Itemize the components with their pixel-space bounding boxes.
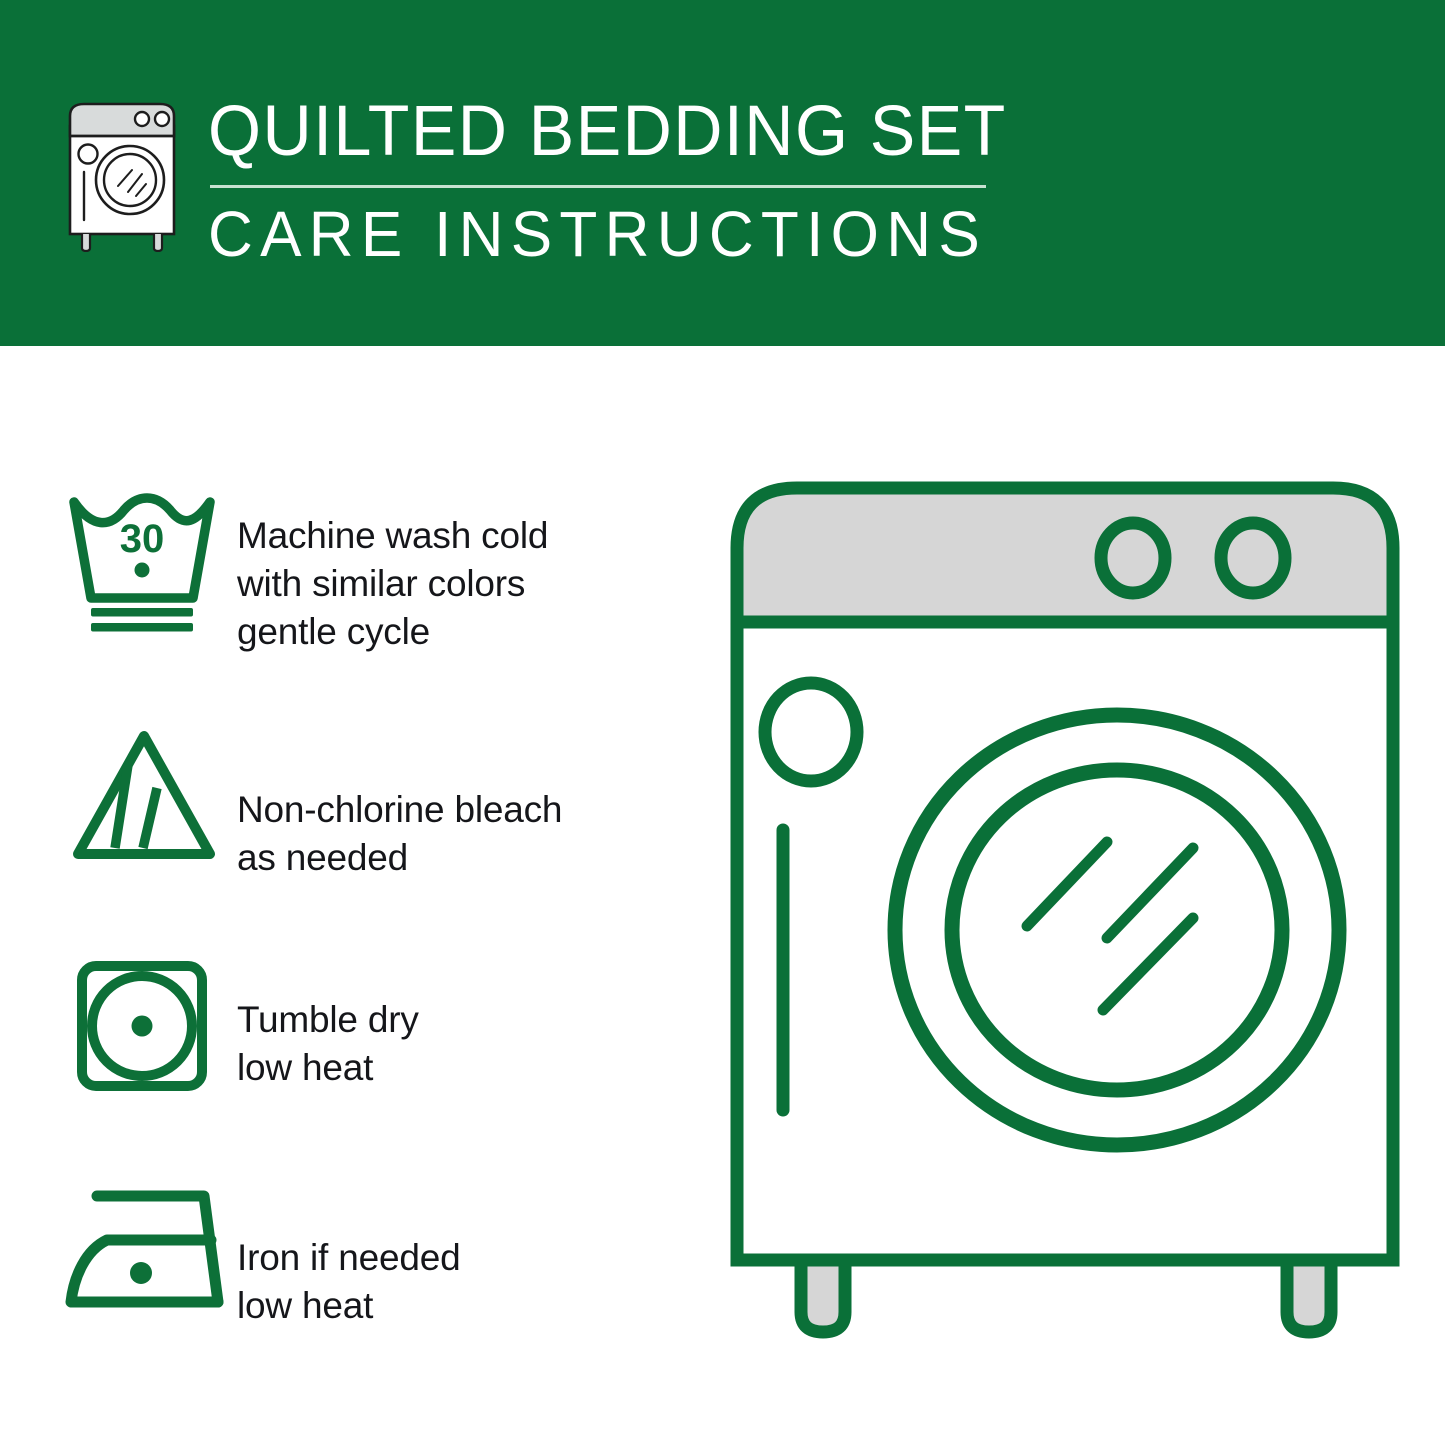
care-instructions-list: 30 Machine wash cold with similar colors… [62,488,682,1416]
machine-leg [1287,1260,1331,1332]
dispenser-button-icon [765,683,857,781]
page-subtitle: CARE INSTRUCTIONS [208,202,1015,266]
page-title: QUILTED BEDDING SET [208,96,1007,167]
iron-symbol [62,1184,237,1314]
tumble-dry-square-icon [62,952,222,1102]
care-item-iron: Iron if needed low heat [62,1184,682,1416]
care-item-bleach: Non-chlorine bleach as needed [62,720,682,952]
care-item-label: Iron if needed low heat [237,1184,460,1330]
header-content: QUILTED BEDDING SET CARE INSTRUCTIONS [62,96,1040,266]
non-chlorine-bleach-symbol [62,720,237,870]
tumble-dry-symbol [62,952,237,1102]
header-titles: QUILTED BEDDING SET CARE INSTRUCTIONS [208,96,1040,266]
care-item-label: Machine wash cold with similar colors ge… [237,488,548,656]
care-instructions-infographic: QUILTED BEDDING SET CARE INSTRUCTIONS 30 [0,0,1445,1445]
washing-machine-illustration [715,470,1415,1360]
care-item-tumble-dry: Tumble dry low heat [62,952,682,1184]
wash-temperature-label: 30 [120,517,165,561]
title-divider [210,185,986,188]
care-item-label: Tumble dry low heat [237,952,419,1092]
care-item-label: Non-chlorine bleach as needed [237,720,562,882]
machine-leg [801,1260,845,1332]
care-item-machine-wash: 30 Machine wash cold with similar colors… [62,488,682,720]
header-band: QUILTED BEDDING SET CARE INSTRUCTIONS [0,0,1445,346]
iron-icon [62,1184,237,1314]
machine-wash-symbol: 30 [62,488,237,638]
washing-machine-icon [62,100,182,252]
wash-tub-30-icon: 30 [62,488,222,638]
bleach-triangle-icon [62,720,222,870]
